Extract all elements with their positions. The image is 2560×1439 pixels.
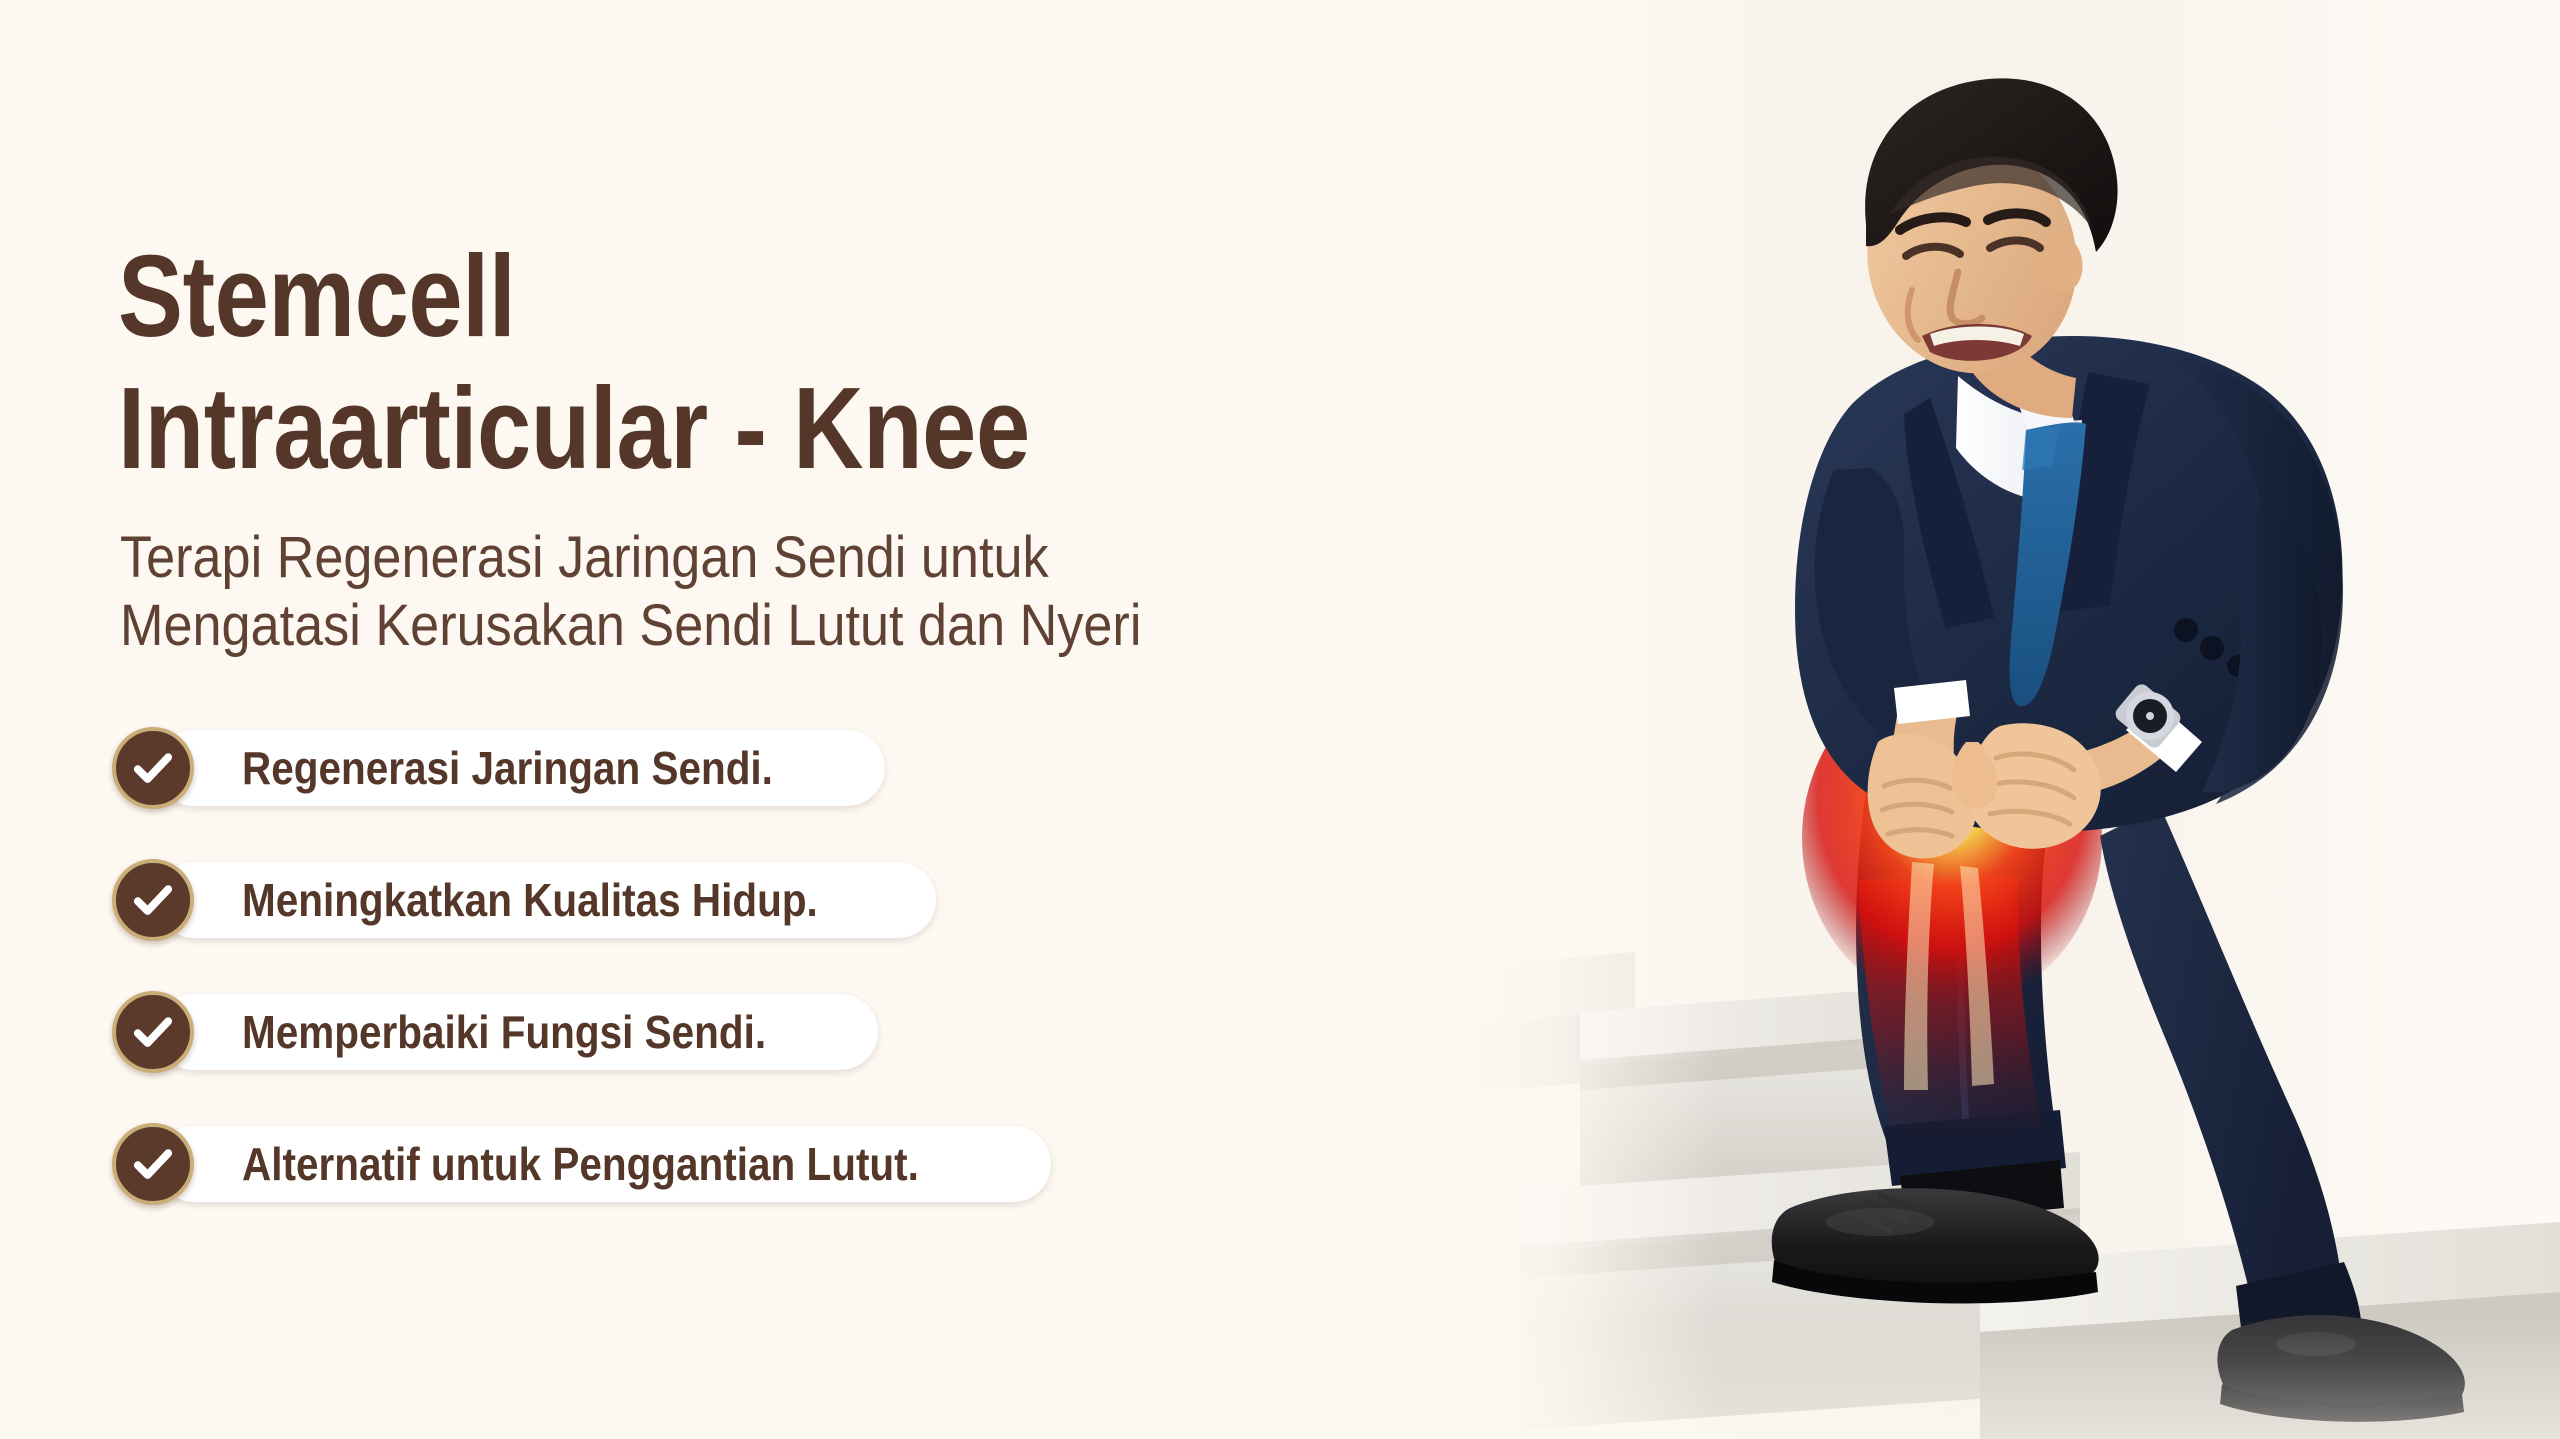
benefit-label: Memperbaiki Fungsi Sendi. [242,1005,766,1059]
headline-line-1: Stemcell [118,230,1235,362]
benefit-label: Meningkatkan Kualitas Hidup. [242,873,818,927]
benefit-item: Regenerasi Jaringan Sendi. [112,724,194,812]
subheadline-line-1: Terapi Regenerasi Jaringan Sendi untuk [120,524,1398,592]
benefit-label: Regenerasi Jaringan Sendi. [242,741,773,795]
headline-line-2: Intraarticular - Knee [118,362,1235,494]
benefit-pill: Alternatif untuk Penggantian Lutut. [156,1126,1051,1202]
benefit-item: Meningkatkan Kualitas Hidup. [112,856,194,944]
benefit-label: Alternatif untuk Penggantian Lutut. [242,1137,919,1191]
hero-photo-illustration [1460,0,2560,1439]
benefit-pill: Regenerasi Jaringan Sendi. [156,730,885,806]
check-icon [112,1123,194,1205]
check-icon [112,727,194,809]
promo-banner: Stemcell Intraarticular - Knee Terapi Re… [0,0,2560,1439]
benefits-list: Regenerasi Jaringan Sendi. Meningkatkan … [112,724,194,1208]
check-icon [112,991,194,1073]
page-title: Stemcell Intraarticular - Knee [118,230,1235,494]
subheadline-line-2: Mengatasi Kerusakan Sendi Lutut dan Nyer… [120,592,1398,660]
check-icon [112,859,194,941]
benefit-pill: Memperbaiki Fungsi Sendi. [156,994,878,1070]
benefit-pill: Meningkatkan Kualitas Hidup. [156,862,936,938]
benefit-item: Memperbaiki Fungsi Sendi. [112,988,194,1076]
content-column: Stemcell Intraarticular - Knee Terapi Re… [0,0,1560,1439]
benefit-item: Alternatif untuk Penggantian Lutut. [112,1120,194,1208]
page-subtitle: Terapi Regenerasi Jaringan Sendi untuk M… [120,524,1398,661]
hero-photo [1460,0,2560,1439]
